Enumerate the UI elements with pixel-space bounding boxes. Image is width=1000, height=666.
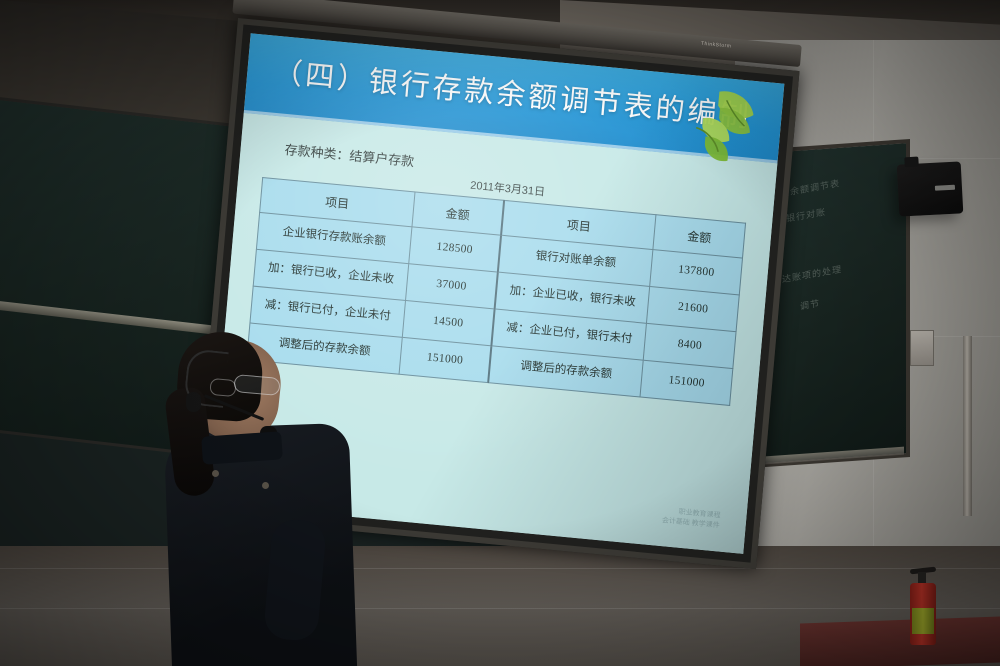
wall-speaker: [897, 161, 964, 216]
slide-watermark: 职业教育课程 会计基础 教学课件: [661, 507, 720, 532]
screen-brand-label: ThinkStorm: [701, 41, 732, 50]
wall-junction-box: [910, 330, 934, 366]
deposit-type-label: 存款种类：结算户存款: [284, 139, 415, 170]
presenter: [150, 330, 380, 666]
leaf-decoration-icon: [668, 82, 766, 185]
row-amount-right: 151000: [640, 360, 733, 405]
row-amount-left: 151000: [399, 337, 491, 382]
speaker-mount: [904, 157, 919, 168]
classroom-photo: 存款余额调节表 银行对账 未达账项的处理 调节 ThinkStorm （四）银行…: [0, 0, 1000, 666]
chalk-text: 调节: [800, 296, 820, 312]
headset-earpiece-icon: [186, 392, 201, 412]
speaker-slot: [935, 185, 955, 191]
desk: [800, 617, 1000, 666]
chalk-text: 银行对账: [786, 205, 826, 225]
garment-button: [212, 470, 219, 477]
table-date: 2011年3月31日: [470, 177, 546, 200]
extinguisher-label: [912, 608, 934, 634]
garment-button: [262, 482, 269, 489]
presenter-collar: [201, 431, 283, 465]
presenter-arm: [263, 518, 327, 642]
wall-pipe: [963, 336, 972, 516]
